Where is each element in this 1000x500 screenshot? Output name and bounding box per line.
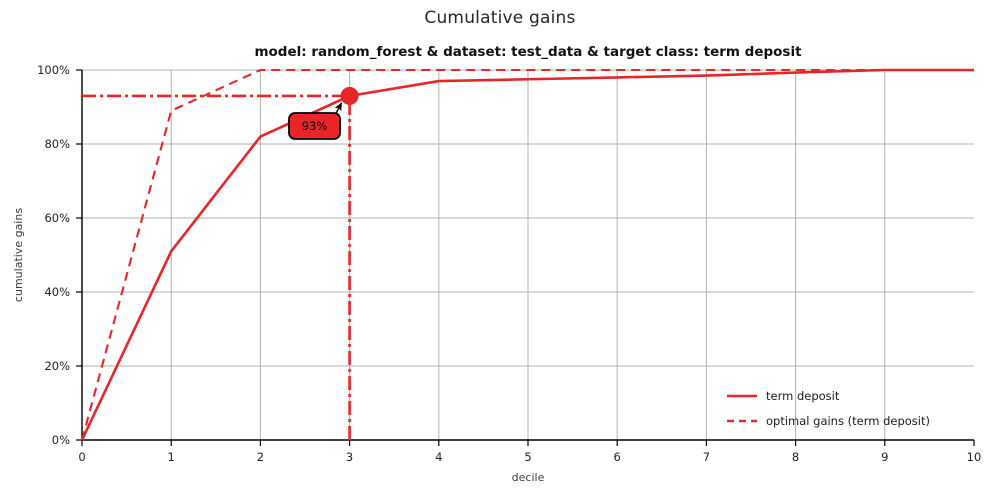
plot-area: 0% 20% 40% 60% 80% 100% 0 1 2 3 4 5 6 7 … — [0, 0, 1000, 500]
x-tick-marks — [82, 440, 974, 446]
x-tick-label: 3 — [346, 450, 353, 464]
cumulative-gains-figure: Cumulative gains model: random_forest & … — [0, 0, 1000, 500]
annotation-box-label: 93% — [302, 119, 328, 133]
annotation-box: 93% — [289, 113, 340, 139]
legend-label-optimal-gains: optimal gains (term deposit) — [766, 414, 930, 428]
y-tick-label: 20% — [44, 359, 70, 373]
x-tick-label: 2 — [257, 450, 264, 464]
x-axis-label: decile — [512, 471, 545, 484]
x-tick-label: 4 — [435, 450, 442, 464]
grid-vertical — [171, 70, 885, 440]
x-tick-label: 10 — [967, 450, 982, 464]
x-tick-label: 9 — [881, 450, 888, 464]
legend-label-term-deposit: term deposit — [766, 389, 840, 403]
x-tick-label: 8 — [792, 450, 799, 464]
y-tick-labels: 0% 20% 40% 60% 80% 100% — [37, 63, 70, 447]
y-tick-label: 80% — [44, 137, 70, 151]
y-tick-label: 40% — [44, 285, 70, 299]
reference-lines — [82, 96, 350, 440]
annotation-marker-dot — [341, 87, 359, 105]
x-tick-labels: 0 1 2 3 4 5 6 7 8 9 10 — [78, 450, 981, 464]
x-tick-label: 7 — [703, 450, 710, 464]
x-tick-label: 1 — [168, 450, 175, 464]
y-tick-label: 100% — [37, 63, 70, 77]
y-tick-marks — [76, 70, 82, 440]
y-axis-label: cumulative gains — [12, 208, 25, 302]
y-tick-label: 60% — [44, 211, 70, 225]
x-tick-label: 5 — [524, 450, 531, 464]
x-tick-label: 6 — [614, 450, 621, 464]
y-tick-label: 0% — [52, 433, 70, 447]
legend: term deposit optimal gains (term deposit… — [727, 389, 930, 428]
x-tick-label: 0 — [78, 450, 85, 464]
